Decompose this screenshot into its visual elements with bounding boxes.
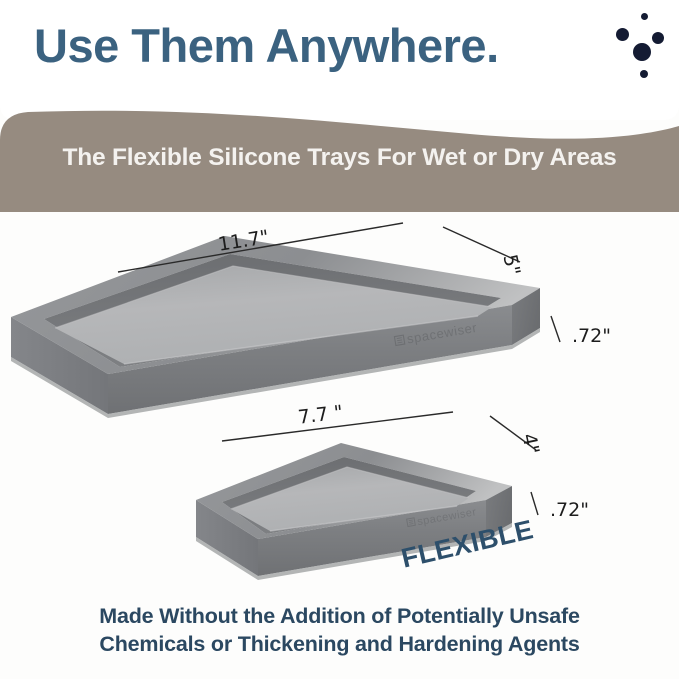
footer-description: Made Without the Addition of Potentially… xyxy=(0,602,679,658)
product-illustration-stage: spacewiser xyxy=(0,212,679,602)
small-tray-width-label: 4" xyxy=(517,432,543,457)
product-marketing-image: Use Them Anywhere. The Flexible Silicone… xyxy=(0,0,679,679)
decorative-dot xyxy=(633,43,651,61)
decorative-dot xyxy=(652,32,664,44)
small-height-leader xyxy=(531,492,538,515)
footer-line-1: Made Without the Addition of Potentially… xyxy=(0,602,679,630)
decorative-dot xyxy=(641,13,648,20)
subtitle-banner: The Flexible Silicone Trays For Wet or D… xyxy=(0,100,679,212)
large-tray-height-label: .72" xyxy=(572,325,611,347)
banner-subtitle: The Flexible Silicone Trays For Wet or D… xyxy=(0,144,679,172)
large-tray-width-label: 5" xyxy=(498,253,524,278)
small-tray-height-label: .72" xyxy=(550,499,589,521)
footer-line-2: Chemicals or Thickening and Hardening Ag… xyxy=(0,630,679,658)
decorative-dot xyxy=(640,70,648,78)
decorative-dot xyxy=(616,28,629,41)
dot-cluster-decoration xyxy=(612,6,674,78)
large-tray-graphic: spacewiser xyxy=(11,223,560,418)
large-height-leader xyxy=(551,316,560,342)
page-title: Use Them Anywhere. xyxy=(34,18,499,73)
